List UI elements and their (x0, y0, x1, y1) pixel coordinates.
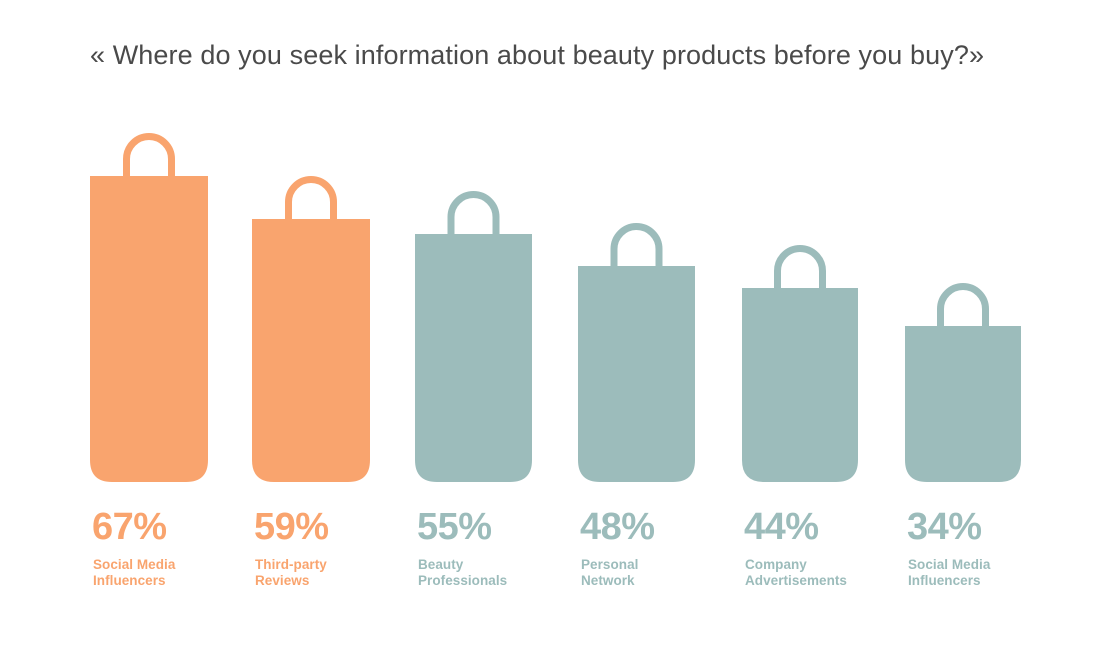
shopping-bag-icon (415, 191, 532, 482)
shopping-bag-icon (905, 283, 1021, 482)
bag-handle-icon (614, 227, 659, 269)
bar-category-label: Social Media Influencers (93, 557, 175, 589)
bar-group[interactable]: 34%Social Media Influencers (905, 0, 1067, 647)
bar-category-label: Personal Network (581, 557, 638, 589)
shopping-bag-icon (742, 245, 858, 482)
bar-group[interactable]: 48%Personal Network (578, 0, 740, 647)
bag-handle-icon (941, 287, 986, 329)
bag-handle-icon (289, 180, 334, 222)
bar-group[interactable]: 55%Beauty Professionals (415, 0, 577, 647)
bar-group[interactable]: 44%Company Advertisements (742, 0, 904, 647)
bar-value-label: 67% (92, 508, 167, 546)
bar-category-label: Beauty Professionals (418, 557, 507, 589)
bar-group[interactable]: 67%Social Media Influencers (90, 0, 252, 647)
bag-body (90, 176, 208, 482)
bar-category-label: Company Advertisements (745, 557, 847, 589)
bar-chart-plot-area: 67%Social Media Influencers59%Third-part… (0, 0, 1110, 647)
shopping-bag-icon (90, 133, 208, 482)
bar-category-label: Third-party Reviews (255, 557, 327, 589)
bar-value-label: 48% (580, 508, 655, 546)
bag-body (252, 219, 370, 482)
bag-body (578, 266, 695, 482)
infographic-canvas: « Where do you seek information about be… (0, 0, 1110, 647)
bar-value-label: 34% (907, 508, 982, 546)
bag-handle-icon (451, 195, 496, 237)
bag-handle-icon (778, 249, 823, 291)
shopping-bag-icon (252, 176, 370, 482)
bag-handle-icon (127, 137, 172, 179)
bar-value-label: 59% (254, 508, 329, 546)
bar-group[interactable]: 59%Third-party Reviews (252, 0, 414, 647)
bag-body (415, 234, 532, 482)
bar-value-label: 55% (417, 508, 492, 546)
bar-value-label: 44% (744, 508, 819, 546)
bag-body (742, 288, 858, 482)
bag-body (905, 326, 1021, 482)
bar-category-label: Social Media Influencers (908, 557, 990, 589)
shopping-bag-icon (578, 223, 695, 482)
